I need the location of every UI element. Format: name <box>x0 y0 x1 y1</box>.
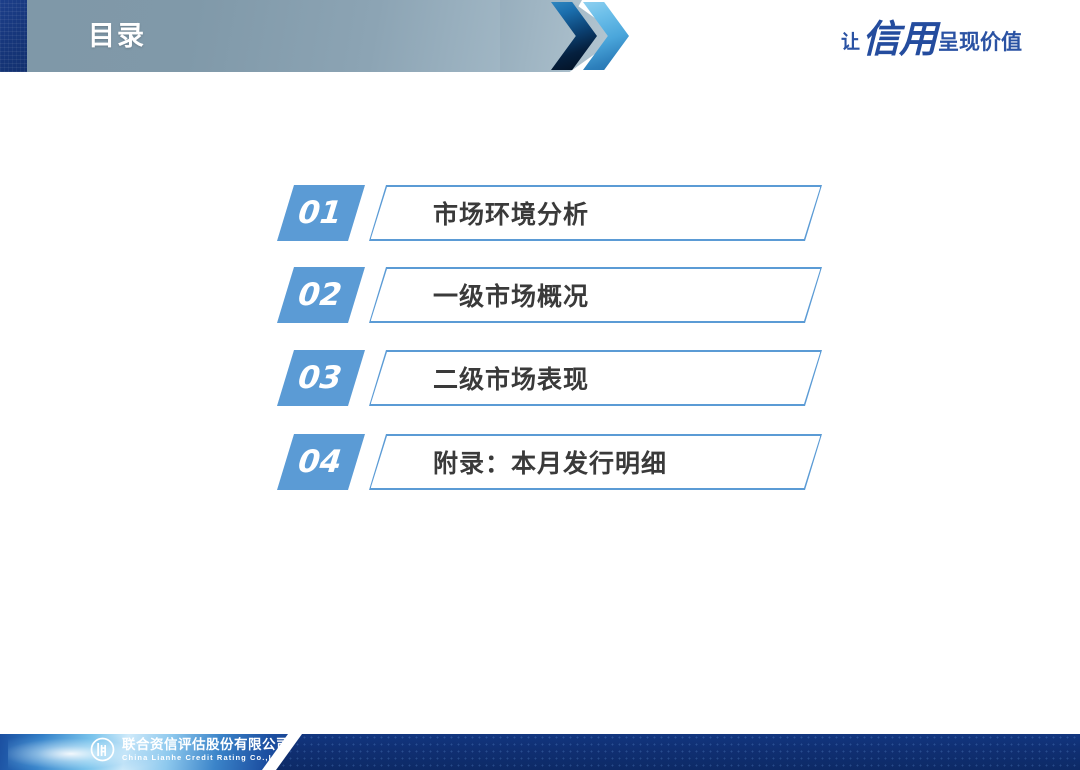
toc-label-panel: 一级市场概况 <box>369 267 822 323</box>
toc-number-badge: 01 <box>277 185 365 241</box>
toc-number-badge: 02 <box>277 267 365 323</box>
toc-item-02[interactable]: 02 一级市场概况 <box>277 267 822 323</box>
toc-item-03[interactable]: 03 二级市场表现 <box>277 350 822 406</box>
company-brand-text: 联合资信评估股份有限公司 China Lianhe Credit Rating … <box>122 738 290 761</box>
brand-slogan: 让 信用 呈现价值 <box>841 17 1022 55</box>
page-title: 目录 <box>88 18 146 54</box>
toc-number: 01 <box>294 198 347 229</box>
slogan-prefix: 让 <box>841 33 860 52</box>
toc-item-04[interactable]: 04 附录：本月发行明细 <box>277 434 822 490</box>
slide-header: 目录 让 信用 呈现价值 <box>0 0 1080 90</box>
company-name-en: China Lianhe Credit Rating Co.,Ltd <box>122 754 290 762</box>
toc-label-panel: 附录：本月发行明细 <box>369 434 822 490</box>
toc-number: 03 <box>294 363 347 394</box>
toc-item-label: 附录：本月发行明细 <box>433 434 667 490</box>
company-name-cn: 联合资信评估股份有限公司 <box>122 738 290 752</box>
toc-item-label: 二级市场表现 <box>433 350 589 406</box>
toc-number-badge: 04 <box>277 434 365 490</box>
toc-item-label: 一级市场概况 <box>433 267 589 323</box>
slogan-suffix: 呈现价值 <box>938 32 1022 53</box>
toc-label-panel: 市场环境分析 <box>369 185 822 241</box>
toc-number-badge: 03 <box>277 350 365 406</box>
slide-footer: 联合资信评估股份有限公司 China Lianhe Credit Rating … <box>0 728 1080 770</box>
toc-number: 02 <box>294 280 347 311</box>
company-brand: 联合资信评估股份有限公司 China Lianhe Credit Rating … <box>90 737 290 762</box>
company-logo-icon <box>90 737 115 762</box>
toc-item-label: 市场环境分析 <box>433 185 589 241</box>
header-navy-accent-block <box>0 0 27 72</box>
toc-number: 04 <box>294 447 347 478</box>
slogan-brush-word: 信用 <box>862 20 936 58</box>
toc-label-panel: 二级市场表现 <box>369 350 822 406</box>
toc-item-01[interactable]: 01 市场环境分析 <box>277 185 822 241</box>
